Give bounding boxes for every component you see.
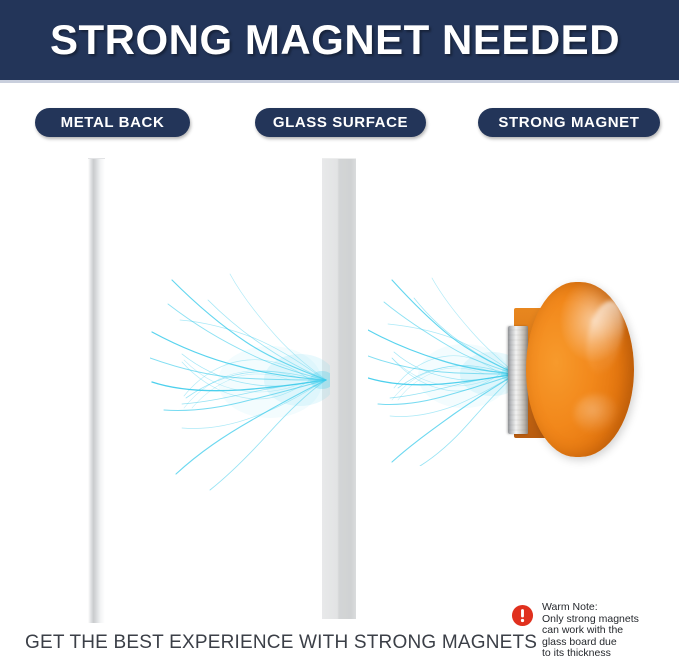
warning-note: Warm Note: Only strong magnets can work … bbox=[511, 602, 679, 659]
label-pill-metal-back: METAL BACK bbox=[35, 108, 190, 137]
magnet-dome-sheen bbox=[574, 394, 620, 434]
warning-line-5: to its thickness bbox=[542, 648, 639, 659]
warning-note-text: Warm Note: Only strong magnets can work … bbox=[542, 602, 639, 659]
magnet-illustration bbox=[500, 282, 635, 457]
magnet-orange-dome bbox=[526, 282, 634, 457]
label-pill-strong-magnet-text: STRONG MAGNET bbox=[498, 114, 639, 131]
magnet-dome-highlight bbox=[581, 297, 630, 376]
exclamation-circle-icon bbox=[511, 604, 534, 627]
label-pill-glass-surface-text: GLASS SURFACE bbox=[273, 114, 408, 131]
label-pill-glass-surface: GLASS SURFACE bbox=[255, 108, 426, 137]
warning-line-1: Warm Note: bbox=[542, 602, 639, 614]
header-banner: STRONG MAGNET NEEDED bbox=[0, 0, 679, 80]
magnetic-field-left-icon bbox=[150, 262, 330, 492]
magnet-metal-disc-rings bbox=[508, 326, 528, 434]
glass-surface-bar bbox=[322, 158, 356, 619]
warning-line-3: can work with the bbox=[542, 625, 639, 637]
label-pill-metal-back-text: METAL BACK bbox=[61, 114, 165, 131]
magnetic-field-right-icon bbox=[368, 276, 520, 466]
bottom-caption: GET THE BEST EXPERIENCE WITH STRONG MAGN… bbox=[25, 632, 537, 654]
metal-back-bar bbox=[88, 158, 105, 623]
label-pill-strong-magnet: STRONG MAGNET bbox=[478, 108, 660, 137]
infographic-page: STRONG MAGNET NEEDED METAL BACK GLASS SU… bbox=[0, 0, 679, 659]
page-title: STRONG MAGNET NEEDED bbox=[50, 19, 620, 61]
header-underline bbox=[0, 80, 679, 83]
